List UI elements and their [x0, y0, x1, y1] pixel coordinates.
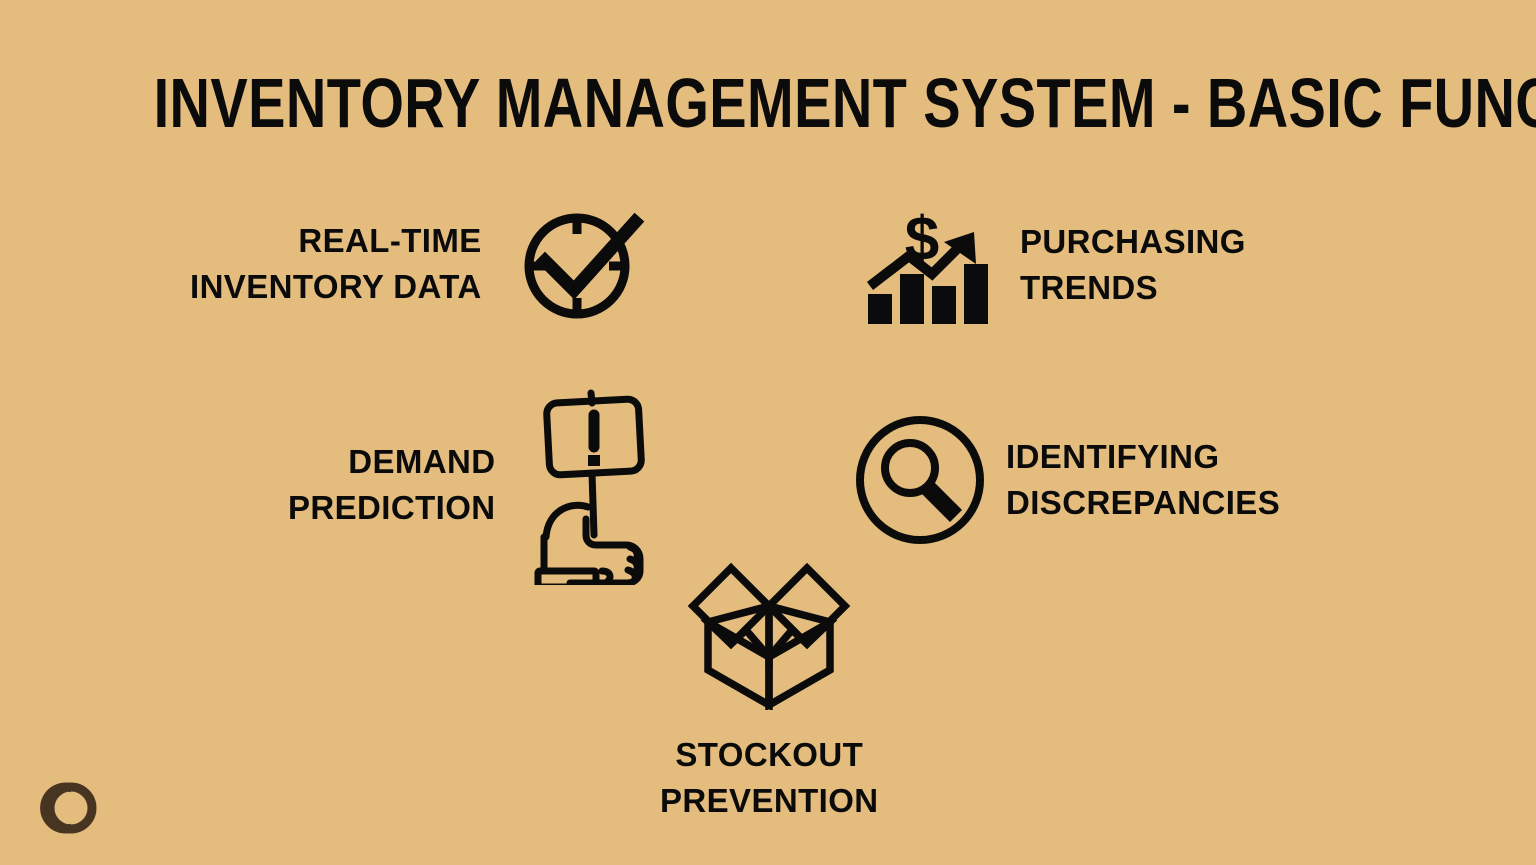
magnifier-in-circle-icon: [852, 412, 988, 548]
feature-label-identifying-discrepancies: IDENTIFYING DISCREPANCIES: [1006, 434, 1280, 526]
feature-label-purchasing-trends: PURCHASING TRENDS: [1020, 219, 1246, 311]
feature-label-line2: INVENTORY DATA: [190, 264, 482, 310]
feature-label-line1: STOCKOUT: [675, 736, 863, 773]
feature-label-line2: DISCREPANCIES: [1006, 480, 1280, 526]
slide-canvas: INVENTORY MANAGEMENT SYSTEM - BASIC FUNC…: [0, 0, 1536, 865]
feature-label-line1: DEMAND: [348, 443, 495, 480]
feature-label-real-time-inventory-data: REAL-TIME INVENTORY DATA: [190, 218, 482, 310]
page-title: INVENTORY MANAGEMENT SYSTEM - BASIC FUNC…: [154, 66, 1383, 140]
feature-label-line2: TRENDS: [1020, 265, 1246, 311]
open-box-icon: [684, 560, 854, 710]
feature-label-stockout-prevention: STOCKOUT PREVENTION: [660, 732, 879, 824]
feature-label-line1: REAL-TIME: [298, 222, 481, 259]
feature-stockout-prevention[interactable]: STOCKOUT PREVENTION: [660, 560, 879, 824]
hand-holding-alert-sign-icon: [530, 385, 656, 585]
feature-label-line1: IDENTIFYING: [1006, 438, 1219, 475]
feature-label-line2: PREDICTION: [288, 485, 496, 531]
feature-label-line1: PURCHASING: [1020, 223, 1246, 260]
dollar-bar-chart-trend-icon: $: [862, 202, 994, 328]
feature-purchasing-trends[interactable]: $ PURCHASING TRENDS: [862, 202, 1246, 328]
feature-label-line2: PREVENTION: [660, 778, 879, 824]
monogram-logo: [26, 768, 102, 844]
feature-demand-prediction[interactable]: DEMAND PREDICTION: [288, 385, 656, 585]
feature-real-time-inventory-data[interactable]: REAL-TIME INVENTORY DATA: [190, 200, 646, 328]
clock-check-icon: [518, 200, 646, 328]
feature-label-demand-prediction: DEMAND PREDICTION: [288, 439, 496, 531]
feature-identifying-discrepancies[interactable]: IDENTIFYING DISCREPANCIES: [852, 412, 1280, 548]
